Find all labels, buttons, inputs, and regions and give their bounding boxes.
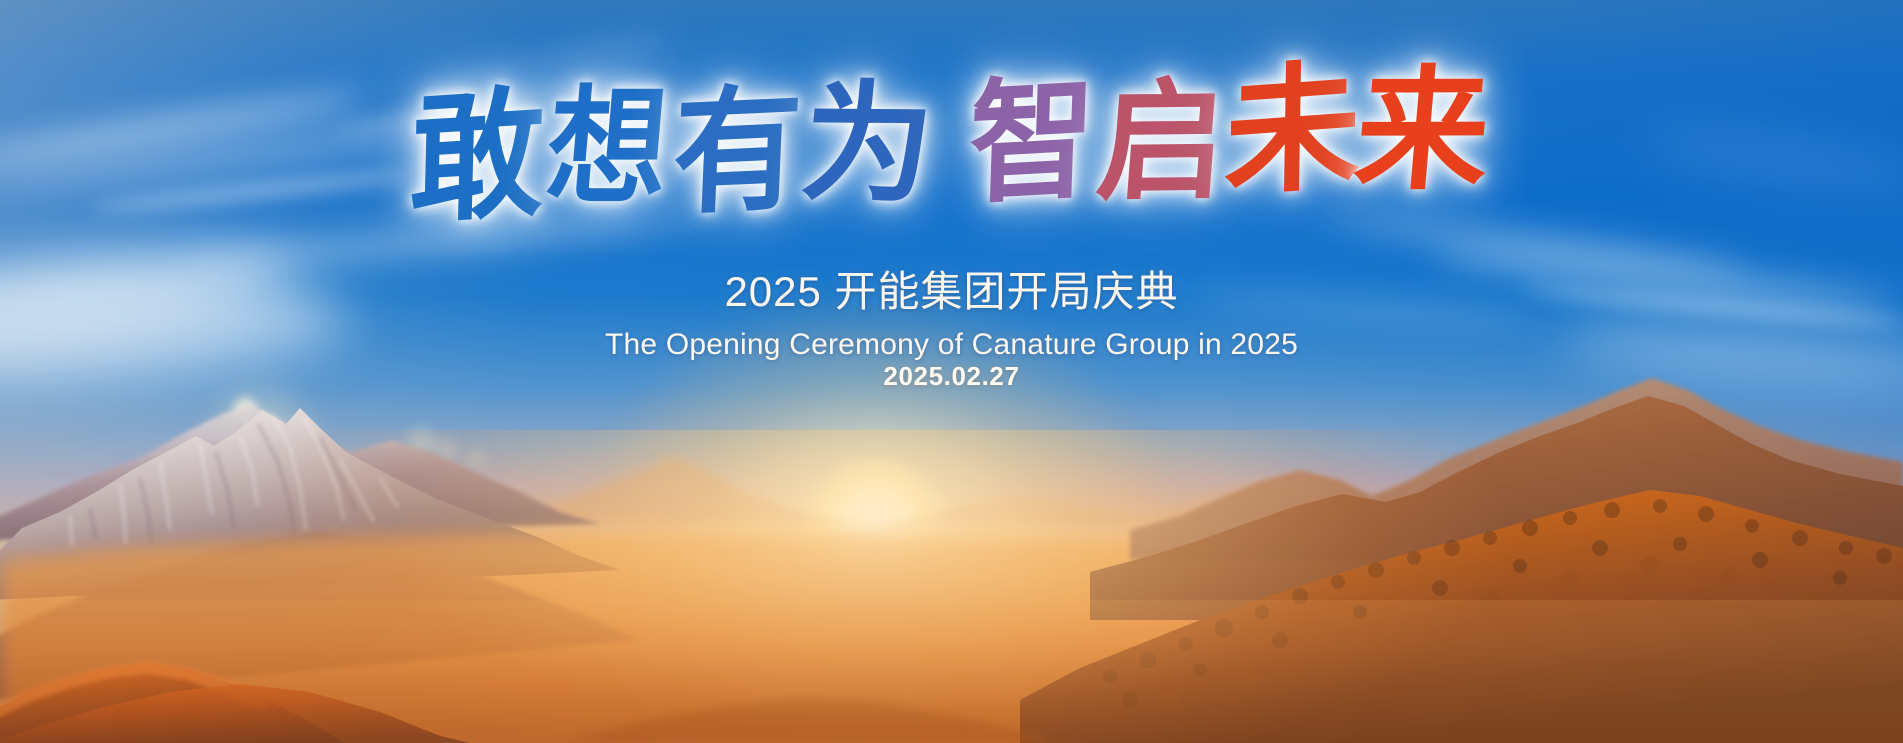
bottom-haze <box>0 600 1903 743</box>
event-banner: 敢想有为智启未来 2025 开能集团开局庆典 The Opening Cerem… <box>0 0 1903 743</box>
mountain-landscape <box>0 0 1903 743</box>
